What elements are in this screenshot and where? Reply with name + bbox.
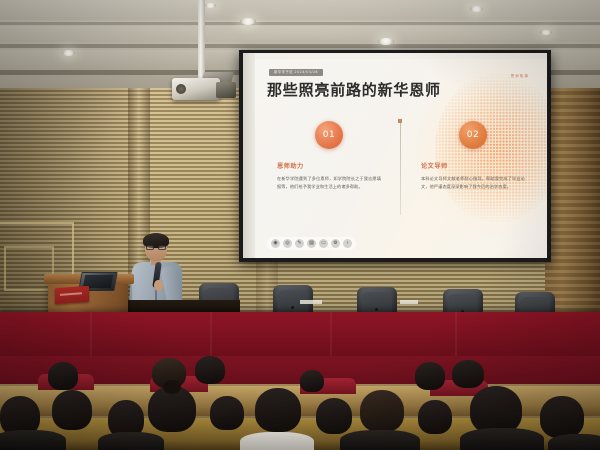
prev-icon[interactable]: ‹	[343, 239, 352, 248]
column-body-text: 在新华学院遇到了多位恩师，如学院院长之于我志愿填报等，他们给予我学业和生活上的诸…	[277, 175, 381, 191]
ceiling-projector	[172, 72, 236, 102]
book-title-band	[60, 292, 82, 296]
ceiling-panel	[0, 26, 600, 42]
presenter-toolbar[interactable]: ◉ ◎ ✎ ▨ ▭ ⚙ ‹	[267, 237, 356, 250]
slide-corner-tag: 恩师故事	[511, 74, 529, 79]
pen-icon[interactable]: ✎	[295, 239, 304, 248]
audience-head	[195, 356, 225, 384]
slide-badge: 新华学子说 2024/03/28	[269, 69, 323, 76]
audience-head	[418, 400, 452, 434]
column-heading: 恩师助力	[277, 161, 381, 170]
audience-head	[415, 362, 445, 390]
audience-shoulders	[0, 430, 66, 450]
circle-icon[interactable]: ◎	[283, 239, 292, 248]
audience-shoulders	[98, 432, 164, 450]
step-number-badge: 02	[459, 121, 487, 149]
audience-head	[255, 388, 301, 432]
column-divider	[400, 123, 401, 215]
audience-head	[360, 390, 404, 432]
audience-head	[540, 396, 584, 438]
presentation-slide: 新华学子说 2024/03/28 那些照亮前路的新华恩师 恩师故事 01 恩师助…	[255, 59, 547, 258]
audience-shoulders	[340, 430, 420, 450]
wall-door-panel	[4, 246, 54, 291]
column-body-text: 本科论文导师文献老师耐心指导，帮助我完成了毕业论文，他严谨态度深深影响了我今后的…	[421, 175, 525, 191]
ceiling-light	[62, 50, 75, 56]
speaker-hand	[154, 280, 163, 291]
ceiling-light	[540, 30, 552, 35]
red-book	[55, 286, 89, 304]
projector-lens-icon	[176, 84, 186, 94]
column-heading: 论文导师	[421, 161, 525, 170]
eraser-icon[interactable]: ▨	[307, 239, 316, 248]
audience-head	[48, 362, 78, 390]
ceiling-panel	[0, 0, 600, 20]
audience-shoulders	[460, 428, 544, 450]
slide-column-02: 02 论文导师 本科论文导师文献老师耐心指导，帮助我完成了毕业论文，他严谨态度深…	[421, 121, 525, 191]
audience-head	[300, 370, 324, 392]
slide-column-01: 01 恩师助力 在新华学院遇到了多位恩师，如学院院长之于我志愿填报等，他们给予我…	[277, 121, 381, 191]
audience-head	[316, 398, 352, 434]
chair-tuft	[291, 306, 294, 309]
step-number-badge: 01	[315, 121, 343, 149]
ceiling-beam	[0, 44, 600, 48]
ceiling-light	[378, 38, 394, 45]
glasses-icon	[146, 245, 166, 250]
projection-screen: 新华学子说 2024/03/28 那些照亮前路的新华恩师 恩师故事 01 恩师助…	[243, 53, 547, 258]
audience-head	[210, 396, 244, 430]
settings-icon[interactable]: ⚙	[331, 239, 340, 248]
screen-edge	[243, 53, 255, 258]
table-paper	[300, 300, 322, 304]
audience-head	[470, 386, 522, 434]
wood-grain	[545, 88, 600, 313]
slides-icon[interactable]: ▭	[319, 239, 328, 248]
audience-head	[452, 360, 484, 388]
ceiling-light	[205, 3, 216, 8]
hair-bun	[163, 380, 181, 394]
chair-tuft	[375, 308, 378, 311]
lecture-hall-photo: 新华学子说 2024/03/28 那些照亮前路的新华恩师 恩师故事 01 恩师助…	[0, 0, 600, 450]
projector-mount-pole	[198, 0, 205, 78]
audience-head	[52, 390, 92, 430]
audience-shoulders	[240, 432, 314, 450]
ceiling-beam	[0, 22, 600, 25]
projector-bracket	[216, 82, 236, 98]
ceiling-light	[240, 18, 256, 25]
audience-area	[0, 356, 600, 450]
ceiling-light	[470, 6, 483, 12]
pointer-icon[interactable]: ◉	[271, 239, 280, 248]
audience-shoulders	[548, 434, 600, 450]
table-paper	[400, 300, 418, 304]
slide-title: 那些照亮前路的新华恩师	[267, 79, 441, 100]
right-wood-wall	[545, 88, 600, 313]
